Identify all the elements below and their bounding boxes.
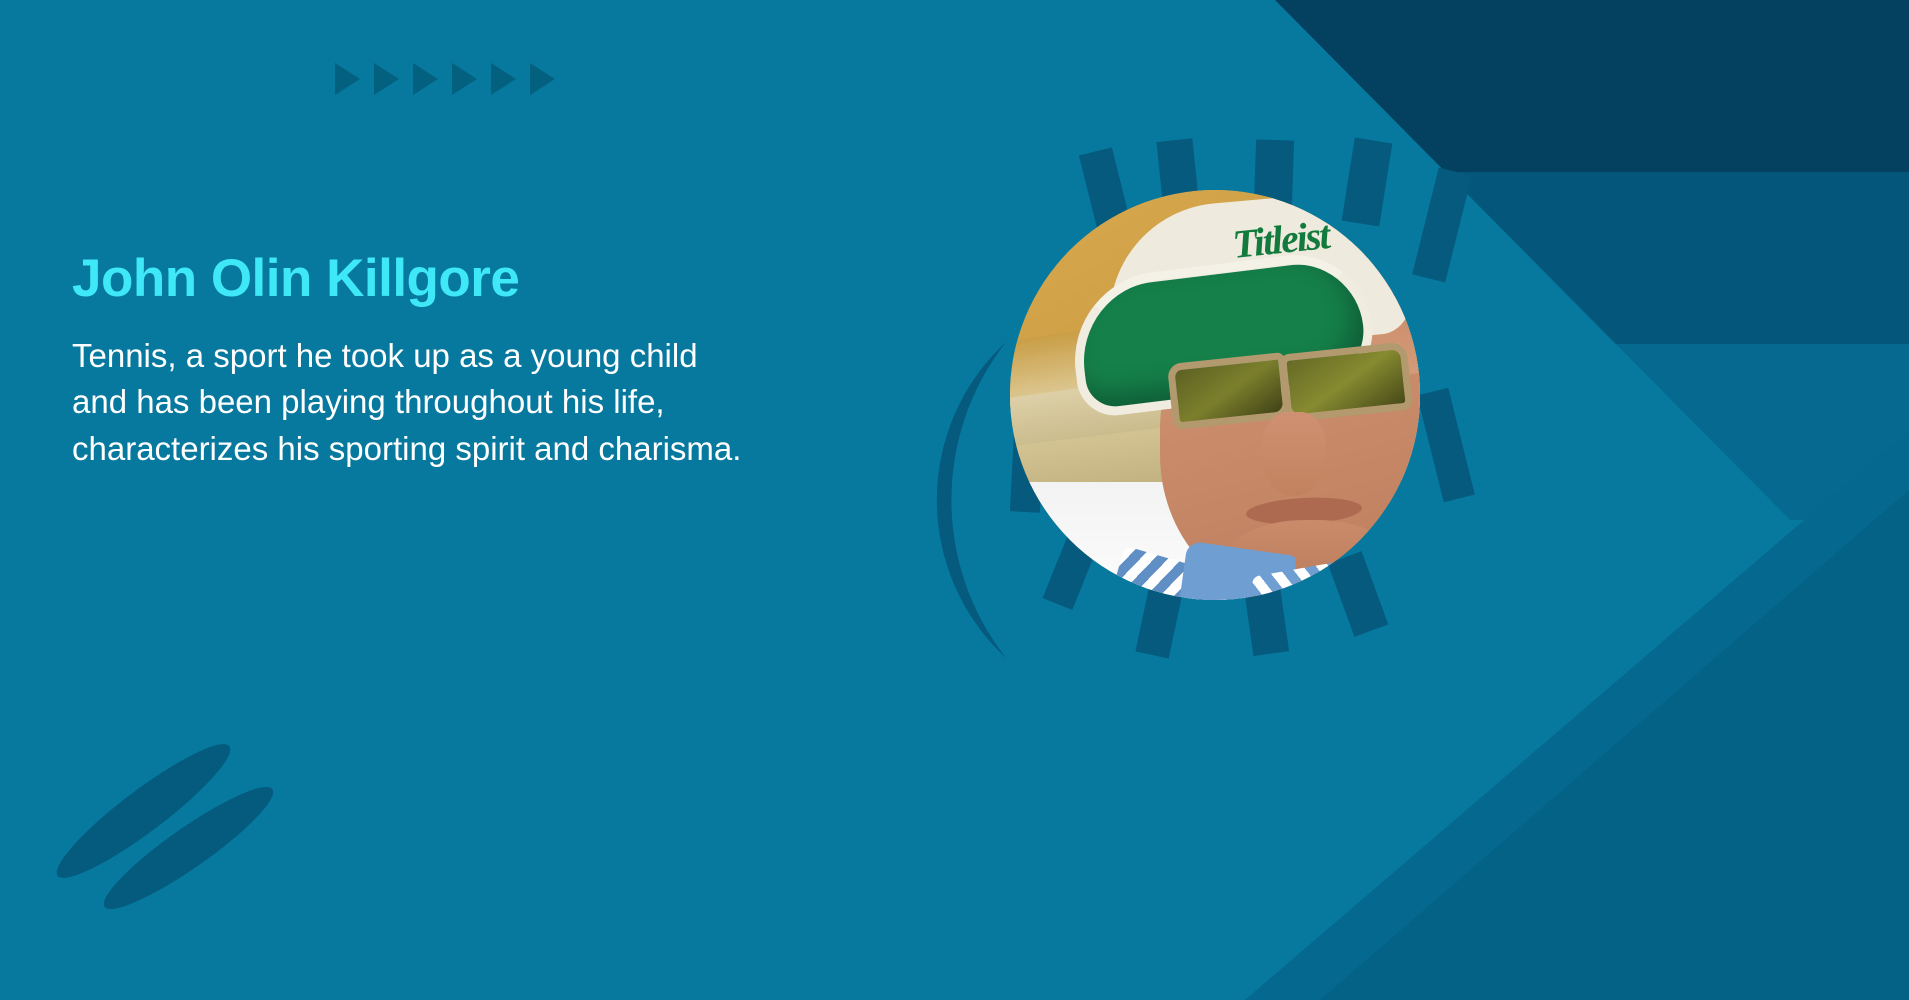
bio-line: characterizes his sporting spirit and ch… (72, 426, 922, 473)
bio-line: Tennis, a sport he took up as a young ch… (72, 333, 922, 380)
play-triangle-icon (413, 63, 438, 95)
photo-sunglasses-lens (1279, 341, 1413, 422)
page-title: John Olin Killgore (72, 248, 922, 311)
play-triangle-icon (374, 63, 399, 95)
portrait-container: Titleist (1010, 190, 1420, 600)
play-triangle-icon (530, 63, 555, 95)
bio-line: and has been playing throughout his life… (72, 379, 922, 426)
bio-paragraph: Tennis, a sport he took up as a young ch… (72, 333, 922, 474)
play-triangle-icon (335, 63, 360, 95)
slide-canvas: John Olin Killgore Tennis, a sport he to… (0, 0, 1909, 1000)
play-triangle-icon (491, 63, 516, 95)
arrow-decoration-row (335, 63, 555, 95)
background-geometry (0, 0, 1909, 1000)
photo-nose (1262, 412, 1326, 496)
play-triangle-icon (452, 63, 477, 95)
text-content-block: John Olin Killgore Tennis, a sport he to… (72, 248, 922, 473)
avatar: Titleist (1010, 190, 1420, 600)
